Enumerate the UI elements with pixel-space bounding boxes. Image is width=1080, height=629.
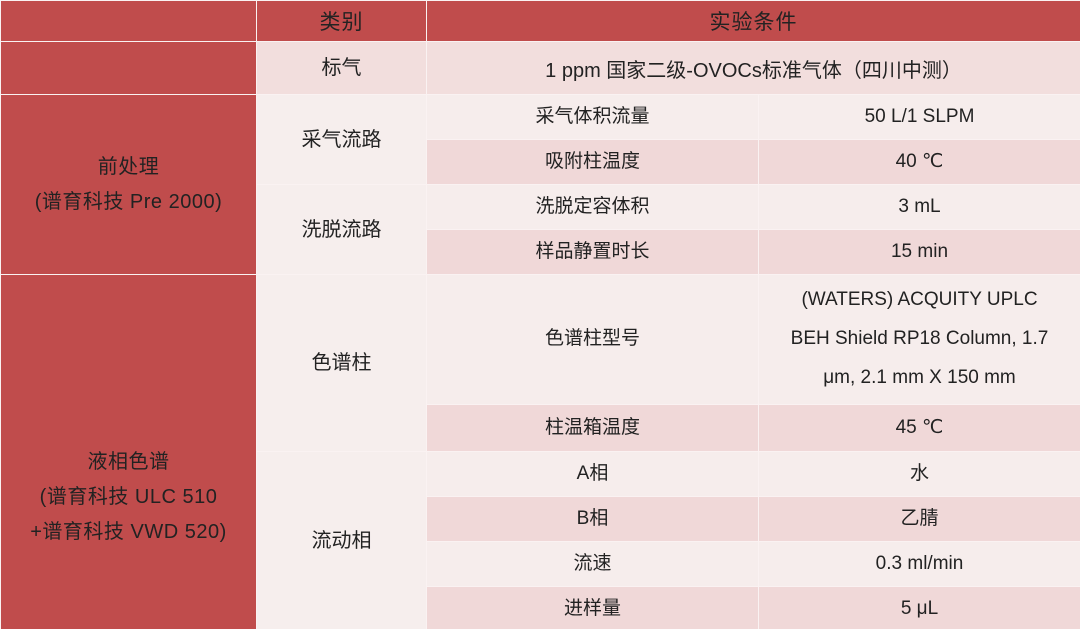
header-blank-cell — [1, 1, 257, 42]
experimental-conditions-table-page: 类别 实验条件 标气 1 ppm 国家二级-OVOCs标准气体（四川中测） 前处… — [0, 0, 1080, 629]
group-cell-blank — [1, 42, 257, 95]
param-name: 样品静置时长 — [427, 230, 759, 275]
table-row-column-model: 液相色谱 (谱育科技 ULC 510 +谱育科技 VWD 520) 色谱柱 色谱… — [1, 275, 1080, 405]
param-value: 50 L/1 SLPM — [759, 95, 1080, 140]
param-value: 15 min — [759, 230, 1080, 275]
group-model-line2: +谱育科技 VWD 520) — [1, 515, 256, 550]
group-name-pretreatment: 前处理 — [98, 156, 160, 178]
param-name: 流速 — [427, 541, 759, 586]
group-label-pretreatment: 前处理 (谱育科技 Pre 2000) — [1, 95, 257, 275]
param-value-multiline: (WATERS) ACQUITY UPLC BEH Shield RP18 Co… — [759, 275, 1080, 405]
param-name: 柱温箱温度 — [427, 404, 759, 451]
category-chromatographic-column: 色谱柱 — [257, 275, 427, 452]
category-elution-path: 洗脱流路 — [257, 185, 427, 275]
value-line-1: (WATERS) ACQUITY UPLC — [771, 281, 1068, 320]
value-standard-gas: 1 ppm 国家二级-OVOCs标准气体（四川中测） — [427, 42, 1080, 95]
category-gas-sampling-path: 采气流路 — [257, 95, 427, 185]
param-value: 乙腈 — [759, 496, 1080, 541]
param-name: 采气体积流量 — [427, 95, 759, 140]
group-model-line1: (谱育科技 ULC 510 — [1, 480, 256, 515]
value-line-3: μm, 2.1 mm X 150 mm — [771, 359, 1068, 398]
header-category: 类别 — [257, 1, 427, 42]
group-model-pretreatment: (谱育科技 Pre 2000) — [1, 185, 256, 220]
group-label-liquid-chromatography: 液相色谱 (谱育科技 ULC 510 +谱育科技 VWD 520) — [1, 275, 257, 629]
param-value: 0.3 ml/min — [759, 541, 1080, 586]
param-name: 色谱柱型号 — [427, 275, 759, 405]
table-row-standard-gas: 标气 1 ppm 国家二级-OVOCs标准气体（四川中测） — [1, 42, 1080, 95]
experimental-conditions-table: 类别 实验条件 标气 1 ppm 国家二级-OVOCs标准气体（四川中测） 前处… — [0, 0, 1080, 629]
param-value: 40 ℃ — [759, 140, 1080, 185]
param-name: 吸附柱温度 — [427, 140, 759, 185]
category-mobile-phase: 流动相 — [257, 451, 427, 629]
category-standard-gas: 标气 — [257, 42, 427, 95]
param-value: 5 μL — [759, 586, 1080, 629]
table-row-sampling-volume-flow: 前处理 (谱育科技 Pre 2000) 采气流路 采气体积流量 50 L/1 S… — [1, 95, 1080, 140]
param-name: A相 — [427, 451, 759, 496]
param-name: 洗脱定容体积 — [427, 185, 759, 230]
param-value: 水 — [759, 451, 1080, 496]
table-header-row: 类别 实验条件 — [1, 1, 1080, 42]
param-value: 45 ℃ — [759, 404, 1080, 451]
param-name: B相 — [427, 496, 759, 541]
group-name-liquid-chromatography: 液相色谱 — [88, 451, 170, 473]
param-value: 3 mL — [759, 185, 1080, 230]
param-name: 进样量 — [427, 586, 759, 629]
header-conditions: 实验条件 — [427, 1, 1080, 42]
value-line-2: BEH Shield RP18 Column, 1.7 — [771, 320, 1068, 359]
